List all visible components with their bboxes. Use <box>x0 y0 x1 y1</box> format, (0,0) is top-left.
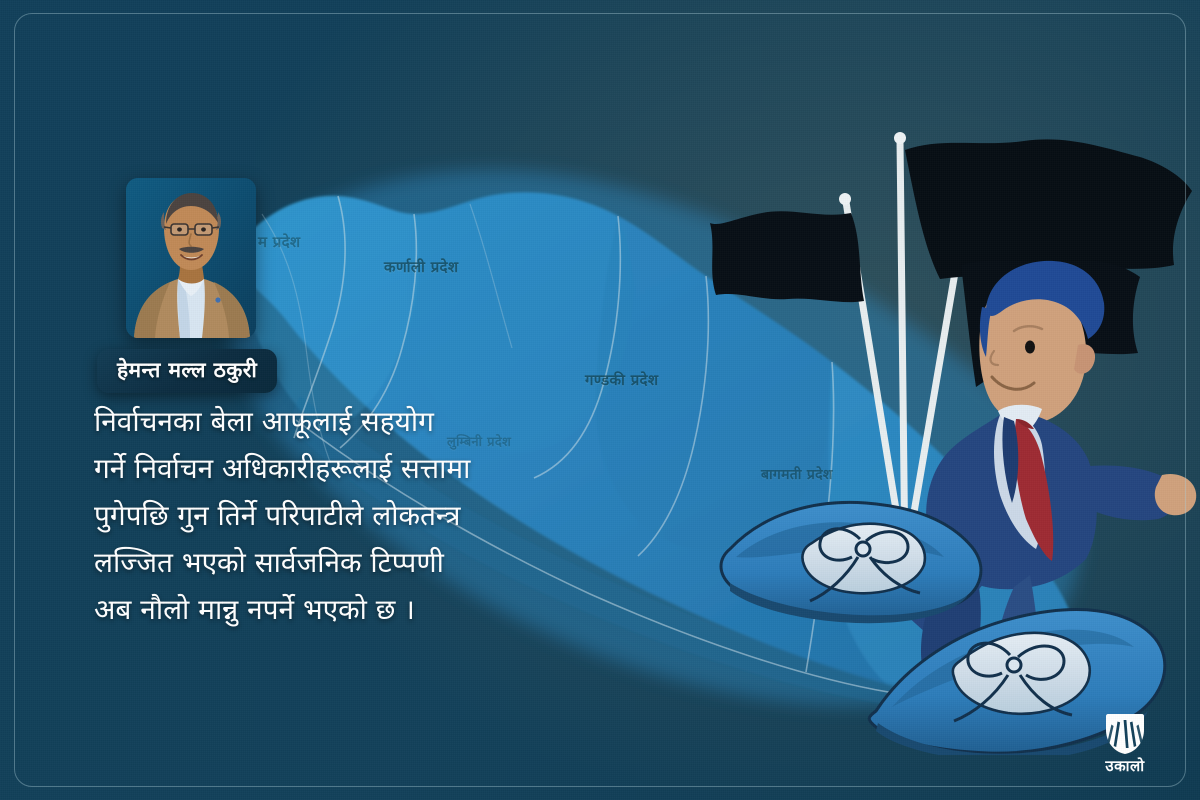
portrait-svg <box>126 178 256 338</box>
map-label-sudurpaschim: म प्रदेश <box>258 232 300 252</box>
illustration-svg <box>700 95 1200 755</box>
quote-line-2: गर्ने निर्वाचन अधिकारीहरूलाई सत्तामा <box>94 445 624 492</box>
poster-canvas: म प्रदेश कर्णाली प्रदेश गण्डकी प्रदेश लु… <box>0 0 1200 800</box>
logo-wordmark: उकालो <box>1093 756 1157 776</box>
map-label-karnali: कर्णाली प्रदेश <box>384 257 458 277</box>
uphill-road-icon <box>1102 714 1148 754</box>
quote-line-5: अब नौलो मान्नु नपर्ने भएको छ । <box>94 586 624 633</box>
quote-line-3: पुगेपछि गुन तिर्ने परिपाटीले लोकतन्त्र <box>94 492 624 539</box>
quote-line-1: निर्वाचनका बेला आफूलाई सहयोग <box>94 398 624 445</box>
portrait-photo <box>126 178 256 338</box>
quote-line-4: लज्जित भएको सार्वजनिक टिप्पणी <box>94 539 624 586</box>
ukalo-logo[interactable]: उकालो <box>1093 714 1157 776</box>
politician-illustration <box>700 95 1200 755</box>
quote-block: निर्वाचनका बेला आफूलाई सहयोग गर्ने निर्व… <box>94 398 624 633</box>
map-label-gandaki: गण्डकी प्रदेश <box>585 370 658 390</box>
speaker-name-badge: हेमन्त मल्ल ठकुरी <box>97 349 277 393</box>
speaker-name: हेमन्त मल्ल ठकुरी <box>117 358 257 382</box>
